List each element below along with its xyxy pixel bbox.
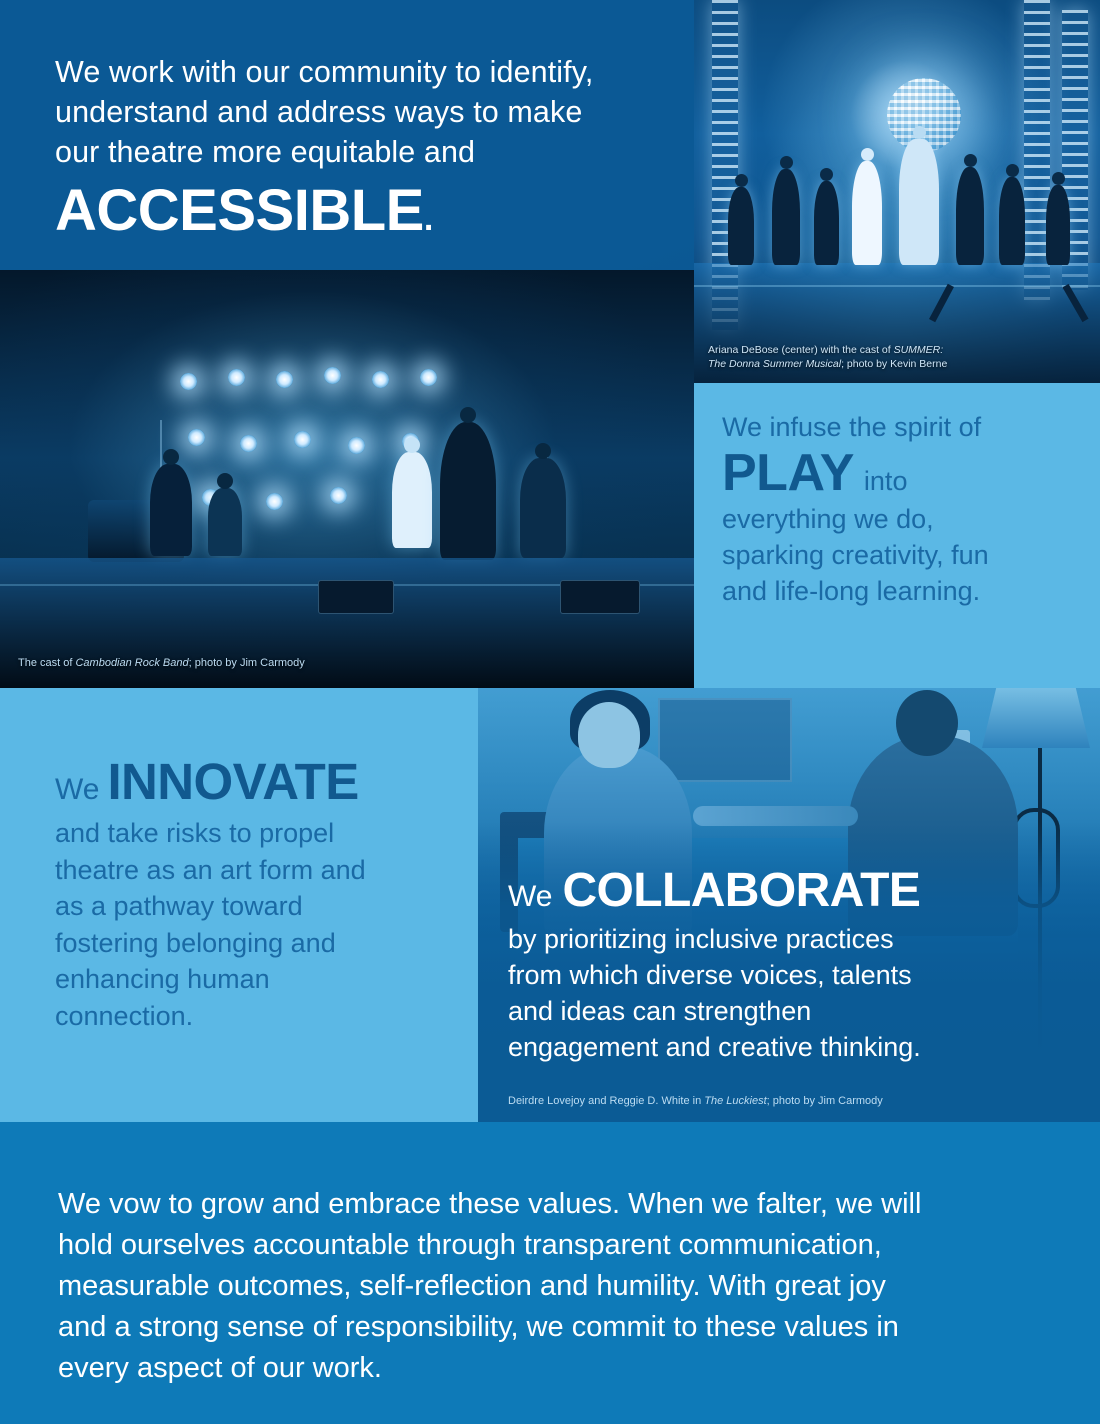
musician-figure	[208, 488, 242, 556]
caption-prefix: Ariana DeBose (center) with the cast of	[708, 344, 894, 356]
panel-innovate: WeINNOVATE and take risks to propel thea…	[0, 688, 478, 1122]
panel-collaborate: WeCOLLABORATE by prioritizing inclusive …	[478, 688, 1100, 1122]
collaborate-body: by prioritizing inclusive practices from…	[508, 921, 1076, 1065]
photo-caption-collaborate: Deirdre Lovejoy and Reggie D. White in T…	[508, 1094, 1080, 1108]
closing-line-2: hold ourselves accountable through trans…	[58, 1225, 1050, 1266]
hero-line-3: our theatre more equitable and	[55, 132, 675, 172]
innovate-keyword: INNOVATE	[99, 752, 358, 811]
closing-line-3: measurable outcomes, self-reflection and…	[58, 1266, 1050, 1307]
innovate-keyword-row: WeINNOVATE	[55, 752, 460, 811]
innovate-body-line-2: theatre as an art form and	[55, 852, 460, 889]
leaping-performer-figure	[440, 422, 496, 560]
caption-suffix: ; photo by Jim Carmody	[767, 1095, 883, 1107]
collaborate-keyword-row: WeCOLLABORATE	[508, 863, 1076, 918]
innovate-body-line-5: enhancing human	[55, 961, 460, 998]
caption-title-part1: SUMMER:	[894, 344, 944, 356]
collaborate-body-line-1: by prioritizing inclusive practices	[508, 921, 1076, 957]
play-statement: We infuse the spirit of PLAYinto everyth…	[722, 409, 1080, 609]
play-keyword-row: PLAYinto	[722, 445, 1080, 501]
collaborate-statement: WeCOLLABORATE by prioritizing inclusive …	[508, 863, 1076, 1065]
closing-line-1: We vow to grow and embrace these values.…	[58, 1184, 1050, 1225]
photo-caption-summer: Ariana DeBose (center) with the cast of …	[708, 344, 1090, 371]
hero-keyword-period: .	[424, 200, 433, 238]
collaborate-prefix: We	[508, 880, 552, 914]
stage-monitor	[318, 580, 394, 614]
caption-title-part2: The Donna Summer Musical	[708, 358, 841, 370]
caption-suffix: ; photo by Kevin Berne	[841, 358, 947, 370]
closing-line-5: every aspect of our work.	[58, 1348, 1050, 1389]
lead-performer-figure	[899, 139, 939, 265]
musician-figure	[150, 464, 192, 556]
collaborate-keyword: COLLABORATE	[552, 863, 920, 918]
collaborate-body-line-4: engagement and creative thinking.	[508, 1029, 1076, 1065]
caption-prefix: The cast of	[18, 657, 75, 669]
closing-statement: We vow to grow and embrace these values.…	[58, 1184, 1050, 1389]
hero-line-2: understand and address ways to make	[55, 92, 675, 132]
play-body-line-2: sparking creativity, fun	[722, 537, 1080, 573]
panel-play: We infuse the spirit of PLAYinto everyth…	[694, 383, 1100, 688]
caption-prefix: Deirdre Lovejoy and Reggie D. White in	[508, 1095, 704, 1107]
innovate-body-line-1: and take risks to propel	[55, 815, 460, 852]
collaborate-body-line-3: and ideas can strengthen	[508, 993, 1076, 1029]
cast-figure	[814, 181, 839, 265]
caption-title: Cambodian Rock Band	[75, 657, 188, 669]
stage-monitor	[560, 580, 640, 614]
musician-figure	[392, 452, 432, 548]
hero-keyword-accessible: ACCESSIBLE.	[55, 180, 675, 250]
cast-figure	[728, 187, 754, 265]
innovate-body-line-6: connection.	[55, 998, 460, 1035]
play-keyword: PLAY	[722, 445, 854, 501]
hero-line-1: We work with our community to identify,	[55, 52, 675, 92]
innovate-body: and take risks to propel theatre as an a…	[55, 815, 460, 1034]
play-body-line-1: everything we do,	[722, 501, 1080, 537]
cast-figure	[1046, 185, 1070, 265]
hero-keyword-text: ACCESSIBLE	[55, 178, 424, 243]
photo-caption-cambodian: The cast of Cambodian Rock Band; photo b…	[18, 656, 305, 670]
closing-line-4: and a strong sense of responsibility, we…	[58, 1307, 1050, 1348]
cast-figure	[956, 167, 984, 265]
innovate-body-line-4: fostering belonging and	[55, 925, 460, 962]
values-poster-page: The cast of Cambodian Rock Band; photo b…	[0, 0, 1100, 1424]
innovate-prefix: We	[55, 773, 99, 807]
musician-figure	[520, 458, 566, 558]
cast-figure	[999, 177, 1025, 265]
photo-summer-musical: Ariana DeBose (center) with the cast of …	[694, 0, 1100, 383]
caption-title: The Luckiest	[704, 1095, 766, 1107]
innovate-body-line-3: as a pathway toward	[55, 888, 460, 925]
cast-figure	[772, 169, 800, 265]
play-keyword-suffix: into	[854, 466, 908, 497]
photo-cambodian-rock-band: The cast of Cambodian Rock Band; photo b…	[0, 270, 694, 688]
closing-band: We vow to grow and embrace these values.…	[0, 1122, 1100, 1424]
play-body-line-3: and life-long learning.	[722, 573, 1080, 609]
cast-figure	[852, 161, 882, 265]
play-line-1: We infuse the spirit of	[722, 409, 1080, 445]
caption-suffix: ; photo by Jim Carmody	[189, 657, 305, 669]
innovate-statement: WeINNOVATE and take risks to propel thea…	[55, 752, 460, 1034]
hero-statement: We work with our community to identify, …	[55, 52, 675, 250]
wall-picture-frame	[658, 698, 792, 782]
stage-edge-line	[694, 285, 1100, 287]
lamp-shade	[982, 688, 1090, 748]
collaborate-body-line-2: from which diverse voices, talents	[508, 957, 1076, 993]
